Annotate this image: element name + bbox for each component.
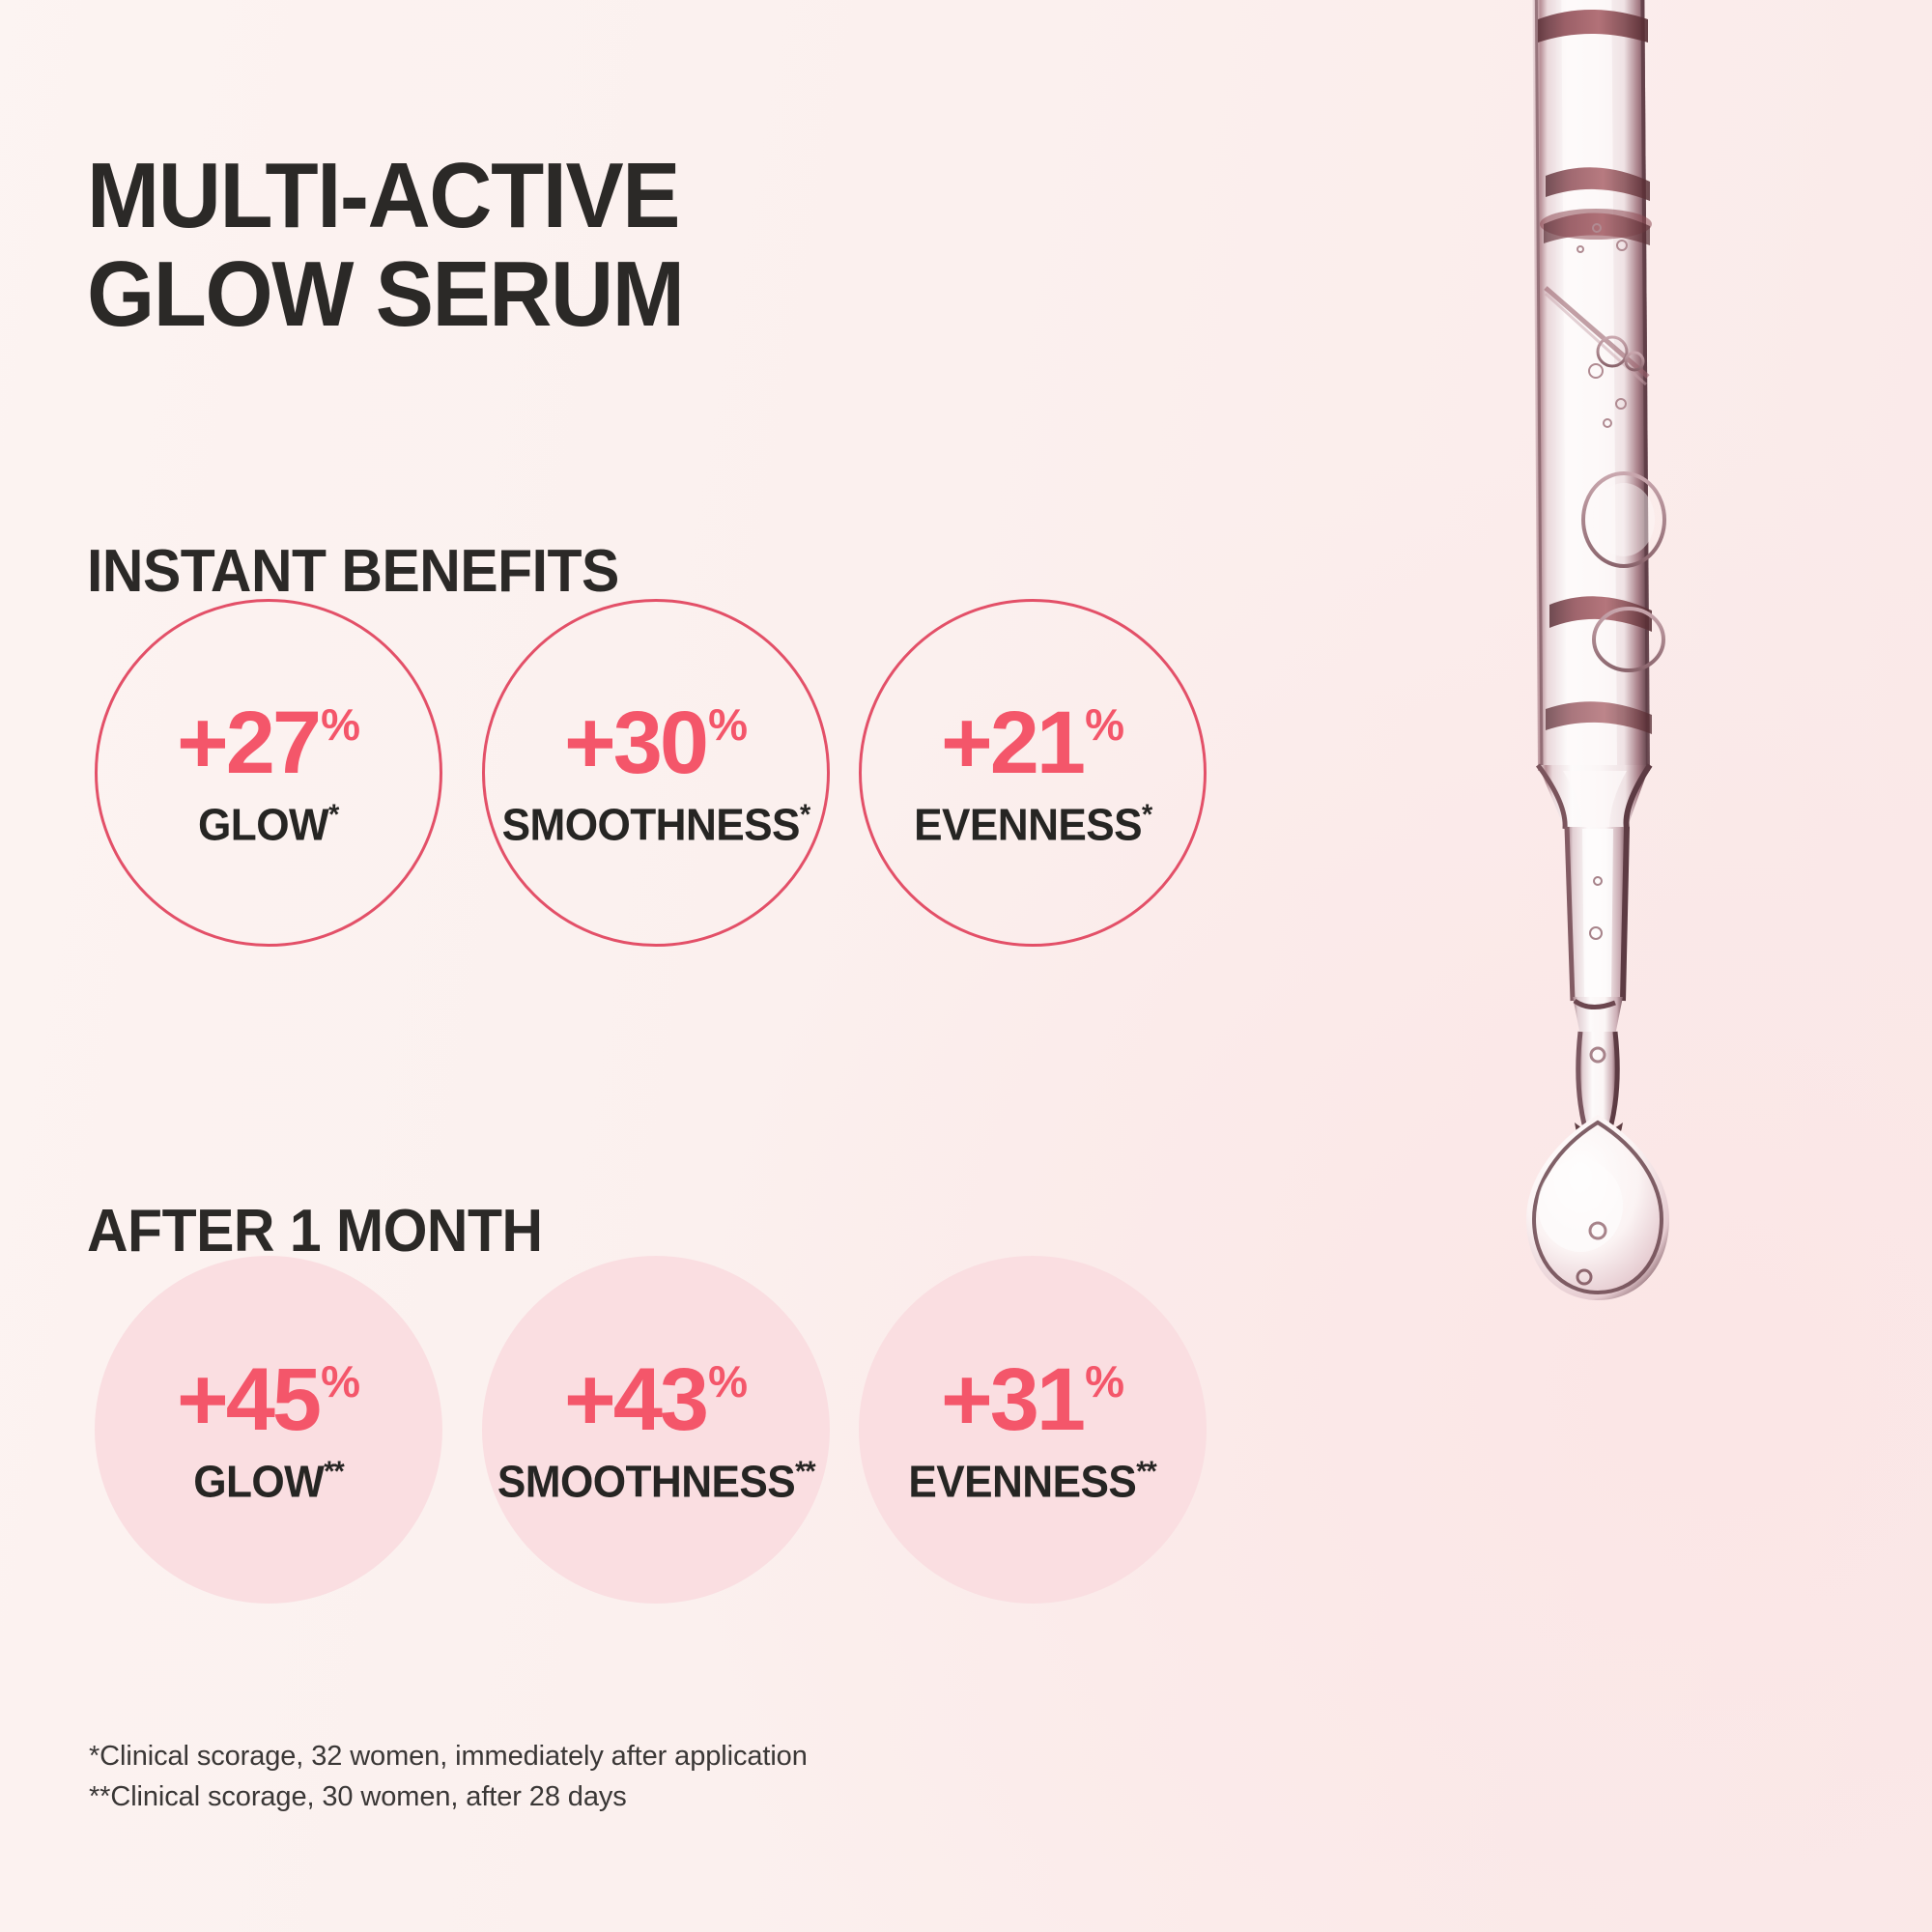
infographic-content: MULTI-ACTIVE GLOW SERUM INSTANT BENEFITS… bbox=[0, 0, 1294, 1932]
stat-unit: % bbox=[708, 1359, 748, 1404]
stat-value-instant-smoothness: +30% bbox=[564, 698, 748, 787]
stat-number: +31 bbox=[941, 1355, 1083, 1444]
stat-footnote-marker: * bbox=[800, 799, 810, 831]
stat-unit: % bbox=[1085, 1359, 1124, 1404]
stat-row-instant-benefits: +27% GLOW* +30% SMOOTHNESS* +21% bbox=[0, 599, 1294, 947]
stat-circle-instant-smoothness: +30% SMOOTHNESS* bbox=[482, 599, 830, 947]
stat-row-after-one-month: +45% GLOW** +43% SMOOTHNESS** +31% bbox=[0, 1256, 1294, 1604]
stat-label-text: SMOOTHNESS bbox=[502, 800, 800, 850]
stat-circle-month-smoothness: +43% SMOOTHNESS** bbox=[482, 1256, 830, 1604]
stat-circle-instant-evenness: +21% EVENNESS* bbox=[859, 599, 1207, 947]
stat-label-month-glow: GLOW** bbox=[193, 1458, 344, 1503]
stat-number: +30 bbox=[564, 698, 706, 787]
stat-unit: % bbox=[1085, 702, 1124, 747]
title-line-1: MULTI-ACTIVE bbox=[87, 147, 1113, 245]
serum-dropper-pipette bbox=[1391, 0, 1932, 1339]
stat-value-month-smoothness: +43% bbox=[564, 1355, 748, 1444]
stat-unit: % bbox=[321, 702, 360, 747]
page-title: MULTI-ACTIVE GLOW SERUM bbox=[87, 147, 1113, 344]
stat-footnote-marker: * bbox=[328, 799, 338, 831]
stat-footnote-marker: ** bbox=[1137, 1456, 1157, 1488]
stat-label-instant-evenness: EVENNESS* bbox=[914, 801, 1151, 846]
footnote-single-asterisk: *Clinical scorage, 32 women, immediately… bbox=[89, 1736, 808, 1776]
stat-label-instant-smoothness: SMOOTHNESS* bbox=[502, 801, 810, 846]
stat-circle-month-glow: +45% GLOW** bbox=[95, 1256, 442, 1604]
stat-number: +21 bbox=[941, 698, 1083, 787]
stat-unit: % bbox=[321, 1359, 360, 1404]
stat-number: +43 bbox=[564, 1355, 706, 1444]
stat-value-month-glow: +45% bbox=[177, 1355, 360, 1444]
stat-number: +45 bbox=[177, 1355, 319, 1444]
footnote-double-asterisk: **Clinical scorage, 30 women, after 28 d… bbox=[89, 1776, 808, 1817]
footnotes: *Clinical scorage, 32 women, immediately… bbox=[89, 1736, 808, 1817]
stat-label-instant-glow: GLOW* bbox=[198, 801, 338, 846]
stat-footnote-marker: * bbox=[1142, 799, 1151, 831]
stat-label-text: GLOW bbox=[193, 1457, 324, 1507]
stat-circle-instant-glow: +27% GLOW* bbox=[95, 599, 442, 947]
infographic-page: MULTI-ACTIVE GLOW SERUM INSTANT BENEFITS… bbox=[0, 0, 1932, 1932]
stat-circle-month-evenness: +31% EVENNESS** bbox=[859, 1256, 1207, 1604]
stat-value-month-evenness: +31% bbox=[941, 1355, 1124, 1444]
stat-footnote-marker: ** bbox=[324, 1456, 344, 1488]
section-heading-instant-benefits: INSTANT BENEFITS bbox=[87, 537, 619, 606]
stat-label-text: EVENNESS bbox=[914, 800, 1142, 850]
stat-label-month-evenness: EVENNESS** bbox=[909, 1458, 1156, 1503]
stat-label-month-smoothness: SMOOTHNESS** bbox=[497, 1458, 815, 1503]
title-line-2: GLOW SERUM bbox=[87, 245, 1113, 344]
stat-label-text: EVENNESS bbox=[909, 1457, 1137, 1507]
stat-label-text: SMOOTHNESS bbox=[497, 1457, 795, 1507]
stat-value-instant-glow: +27% bbox=[177, 698, 360, 787]
stat-value-instant-evenness: +21% bbox=[941, 698, 1124, 787]
stat-label-text: GLOW bbox=[198, 800, 328, 850]
stat-footnote-marker: ** bbox=[795, 1456, 815, 1488]
stat-unit: % bbox=[708, 702, 748, 747]
stat-number: +27 bbox=[177, 698, 319, 787]
